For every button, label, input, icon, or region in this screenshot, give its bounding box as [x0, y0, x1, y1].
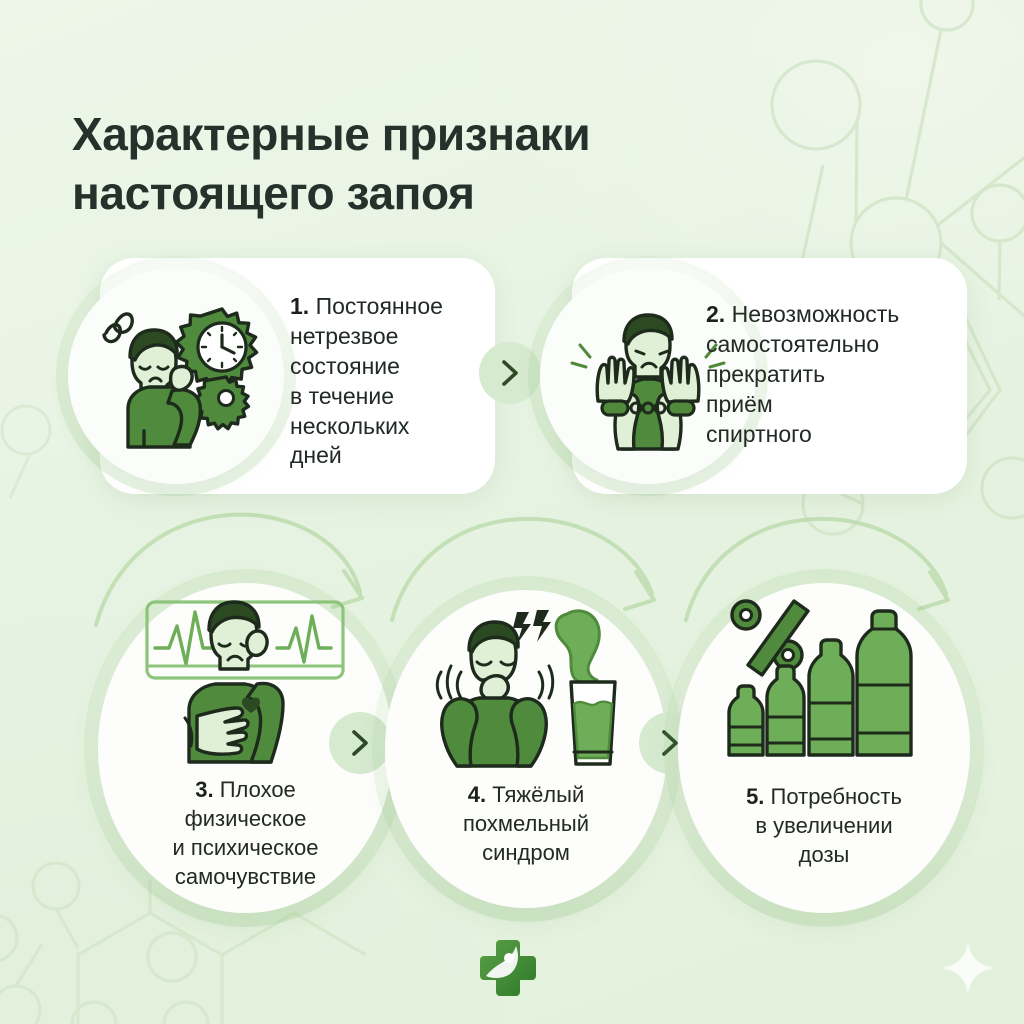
sparkle-star-icon	[940, 940, 996, 996]
step-5-label: Потребность в увеличении дозы	[755, 784, 902, 867]
medical-cross-person-logo	[476, 936, 540, 1000]
step-5-text: 5. Потребность в увеличении дозы	[678, 782, 970, 869]
page-title: Характерные признаки настоящего запоя	[72, 105, 812, 223]
infographic-canvas: Характерные признаки настоящего запоя	[0, 0, 1024, 1024]
step-1-number: 1.	[290, 293, 309, 319]
step-4-icon-wrap	[398, 595, 656, 770]
step-2-number: 2.	[706, 301, 725, 327]
step-5-icon-wrap	[690, 588, 960, 768]
step-3-number: 3.	[195, 777, 213, 802]
percent-bottles-increasing-icon	[720, 593, 930, 763]
step-4-number: 4.	[468, 782, 486, 807]
step-3-text: 3. Плохое физическое и психическое самоч…	[98, 775, 393, 891]
man-nausea-glass-icon	[417, 598, 637, 768]
man-chest-pain-ecg-icon	[131, 592, 361, 764]
step-1-text: 1. Постоянное нетрезвое состояние в тече…	[290, 292, 495, 471]
man-headache-clock-gears-icon	[88, 301, 264, 451]
step-2-label: Невозможность самостоятельно прекратить …	[706, 301, 899, 447]
step-5-number: 5.	[746, 784, 764, 809]
step-2-text: 2. Невозможность самостоятельно прекрати…	[706, 300, 956, 449]
step-1-icon-circle	[68, 268, 284, 484]
step-4-text: 4. Тяжёлый похмельный синдром	[385, 780, 667, 867]
step-1-label: Постоянное нетрезвое состояние в течение…	[290, 293, 443, 468]
